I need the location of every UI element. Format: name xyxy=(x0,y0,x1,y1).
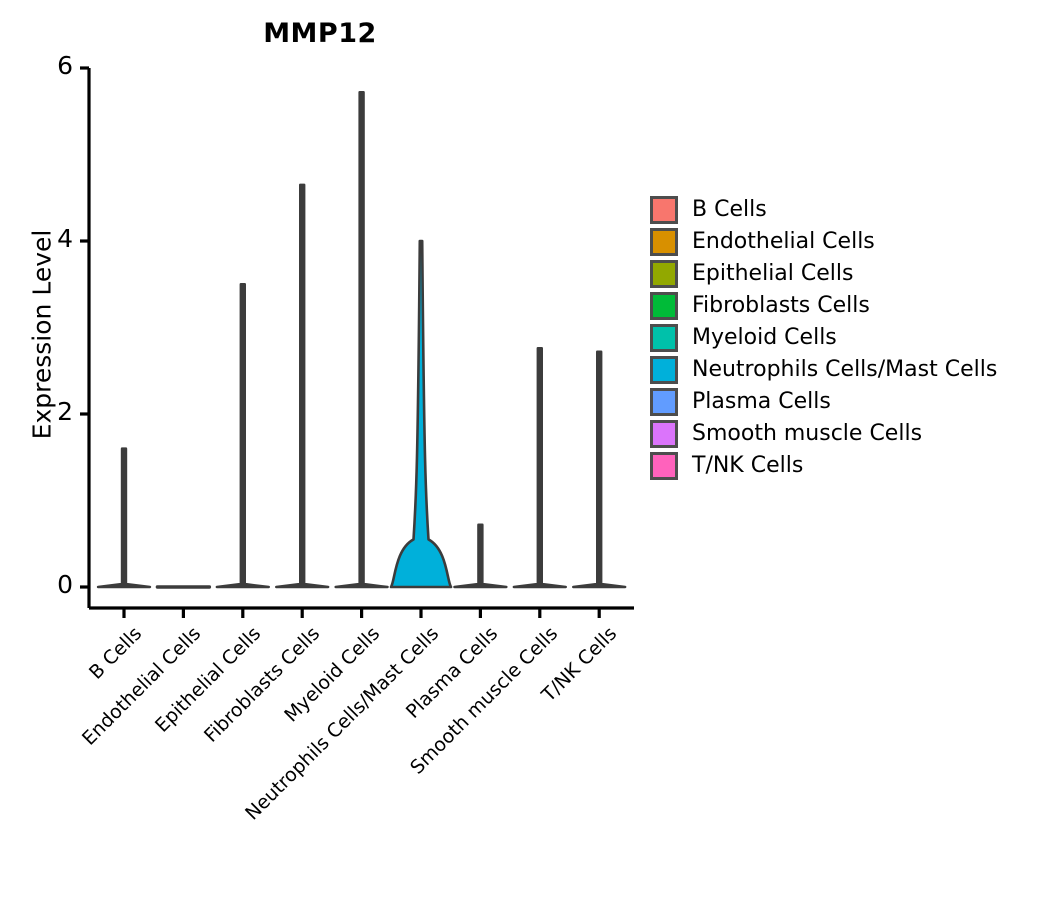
violins-group xyxy=(98,92,625,587)
y-tick-label: 6 xyxy=(33,53,73,78)
legend-item-label: Myeloid Cells xyxy=(692,327,837,349)
legend: B CellsEndothelial CellsEpithelial Cells… xyxy=(650,194,997,482)
violin-plot-figure: MMP12 Expression Level 0246 B CellsEndot… xyxy=(0,0,1057,900)
violin-t-nk-cells xyxy=(573,352,625,587)
violin-neutrophils-cells-mast-cells xyxy=(391,241,451,587)
legend-swatch-icon xyxy=(650,260,678,288)
legend-item-label: Endothelial Cells xyxy=(692,231,875,253)
legend-swatch-icon xyxy=(650,356,678,384)
legend-item-label: T/NK Cells xyxy=(692,455,803,477)
violin-epithelial-cells xyxy=(217,284,269,587)
legend-item[interactable]: Plasma Cells xyxy=(650,386,997,418)
violin-smooth-muscle-cells xyxy=(514,348,566,587)
legend-item[interactable]: Neutrophils Cells/Mast Cells xyxy=(650,354,997,386)
legend-item-label: Smooth muscle Cells xyxy=(692,423,922,445)
legend-item[interactable]: B Cells xyxy=(650,194,997,226)
y-tick-label: 4 xyxy=(33,226,73,251)
violin-fibroblasts-cells xyxy=(276,185,328,587)
y-tick-label: 0 xyxy=(33,572,73,597)
legend-item-label: Neutrophils Cells/Mast Cells xyxy=(692,359,997,381)
violin-myeloid-cells xyxy=(336,92,388,587)
legend-swatch-icon xyxy=(650,388,678,416)
legend-item-label: Fibroblasts Cells xyxy=(692,295,870,317)
legend-item[interactable]: Fibroblasts Cells xyxy=(650,290,997,322)
y-tick-label: 2 xyxy=(33,399,73,424)
page-title: MMP12 xyxy=(0,18,640,49)
legend-item[interactable]: Myeloid Cells xyxy=(650,322,997,354)
legend-item[interactable]: Smooth muscle Cells xyxy=(650,418,997,450)
legend-item-label: Epithelial Cells xyxy=(692,263,853,285)
legend-swatch-icon xyxy=(650,324,678,352)
axes-group xyxy=(80,68,634,618)
legend-item[interactable]: Endothelial Cells xyxy=(650,226,997,258)
legend-item-label: Plasma Cells xyxy=(692,391,831,413)
legend-swatch-icon xyxy=(650,452,678,480)
legend-swatch-icon xyxy=(650,420,678,448)
legend-item-label: B Cells xyxy=(692,199,767,221)
violin-b-cells xyxy=(98,449,150,587)
legend-item[interactable]: Epithelial Cells xyxy=(650,258,997,290)
legend-swatch-icon xyxy=(650,196,678,224)
legend-swatch-icon xyxy=(650,292,678,320)
legend-item[interactable]: T/NK Cells xyxy=(650,450,997,482)
violin-plasma-cells xyxy=(454,525,506,587)
legend-swatch-icon xyxy=(650,228,678,256)
y-axis-title: Expression Level xyxy=(28,155,57,515)
